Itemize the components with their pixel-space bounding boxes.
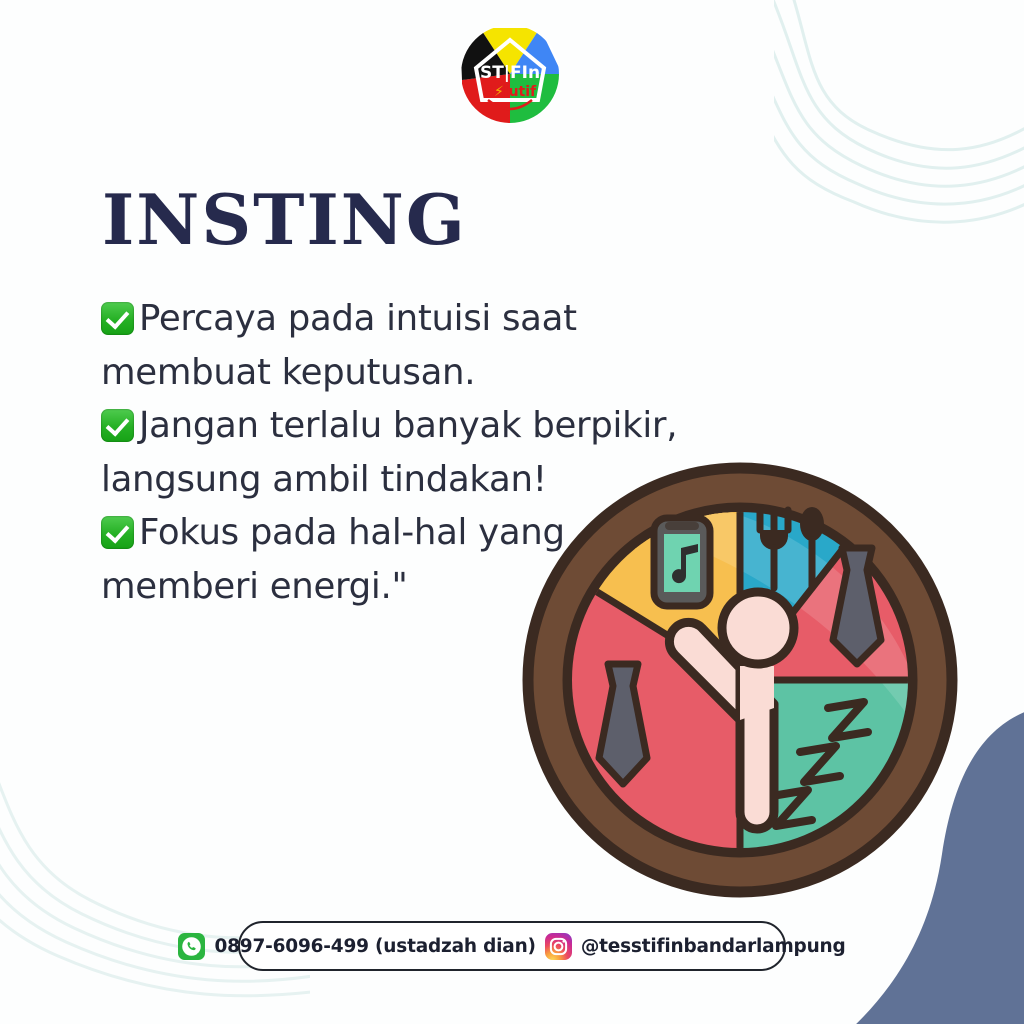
bullet-2-line-1: Jangan terlalu banyak berpikir,: [101, 399, 701, 453]
instagram-icon[interactable]: [545, 933, 572, 960]
logo-secondary-text: S⚡lutif: [484, 84, 537, 100]
whatsapp-icon[interactable]: [178, 933, 205, 960]
white-check-mark-icon: [101, 302, 134, 335]
logo-primary-text: ST|FIn: [480, 63, 540, 83]
decorative-waves-top-right: [774, 0, 1024, 310]
bullet-2-line-2: langsung ambil tindakan!: [101, 453, 701, 507]
bullet-1-line-2: membuat keputusan.: [101, 346, 701, 400]
white-check-mark-icon: [101, 409, 134, 442]
bullet-3-line-1: Fokus pada hal-hal yang: [101, 506, 701, 560]
bullet-1-line-1: Percaya pada intuisi saat: [101, 292, 701, 346]
instagram-handle[interactable]: @tesstifinbandarlampung: [581, 936, 846, 957]
page-title: INSTING: [102, 186, 467, 255]
bullet-list: Percaya pada intuisi saat membuat keputu…: [101, 292, 701, 613]
bullet-3-line-2: memberi energi.": [101, 560, 701, 614]
stifin-logo-icon: ST|FIn S⚡lutif: [458, 22, 562, 126]
contact-bar[interactable]: 0897-6096-499 (ustadzah dian) @tesstifin…: [238, 921, 786, 971]
poster-canvas: ST|FIn S⚡lutif INSTING Percaya pada intu…: [0, 0, 1024, 1024]
brand-logo: ST|FIn S⚡lutif: [458, 22, 562, 126]
white-check-mark-icon: [101, 516, 134, 549]
whatsapp-number[interactable]: 0897-6096-499 (ustadzah dian): [214, 936, 535, 957]
